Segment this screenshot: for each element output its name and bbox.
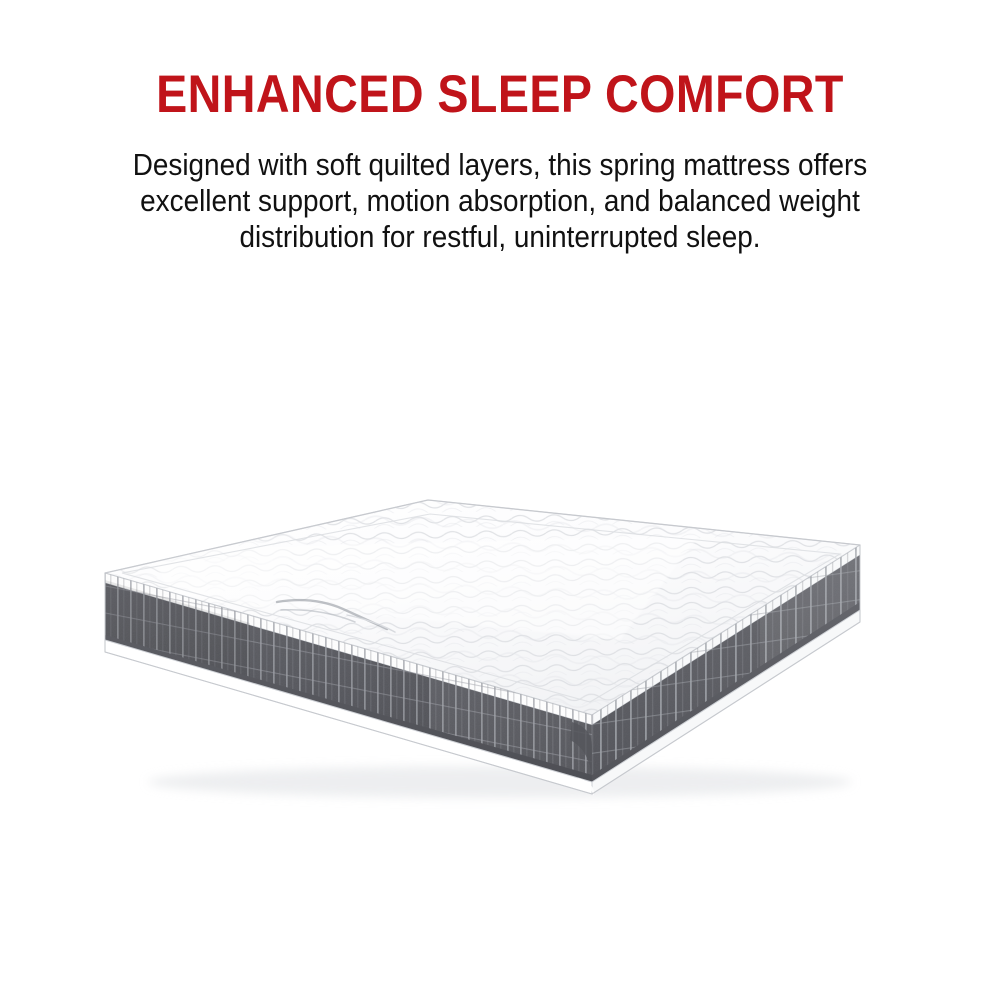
description-line-3: distribution for restful, uninterrupted … <box>50 219 950 255</box>
mattress-product-image <box>0 430 1000 850</box>
description-line-2: excellent support, motion absorption, an… <box>50 183 950 219</box>
product-shadow <box>148 766 852 798</box>
page-title: ENHANCED SLEEP COMFORT <box>60 0 940 121</box>
copy-block: ENHANCED SLEEP COMFORT Designed with sof… <box>0 0 1000 255</box>
product-feature-banner: ENHANCED SLEEP COMFORT Designed with sof… <box>0 0 1000 1000</box>
product-image-stage <box>0 430 1000 850</box>
description-line-1: Designed with soft quilted layers, this … <box>50 147 950 183</box>
description-paragraph: Designed with soft quilted layers, this … <box>50 121 950 255</box>
